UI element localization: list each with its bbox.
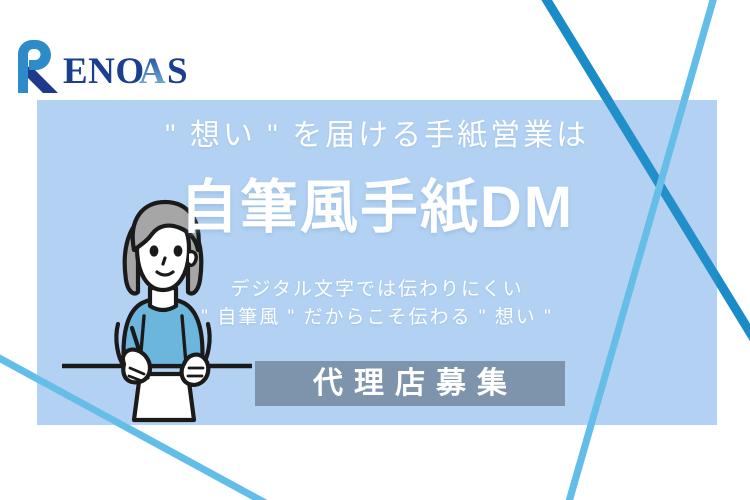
ear-shape bbox=[189, 252, 196, 266]
cta-label: 代理店募集 bbox=[302, 369, 518, 399]
wordmark-accent-a: A bbox=[139, 51, 166, 92]
renoas-wordmark: ENO A S bbox=[63, 50, 203, 92]
brand-logo[interactable]: ENO A S bbox=[10, 36, 203, 94]
eye-left bbox=[150, 245, 159, 256]
agency-recruitment-badge[interactable]: 代理店募集 bbox=[255, 361, 565, 406]
promo-banner: ENO A S bbox=[0, 0, 750, 500]
eye-right bbox=[174, 245, 183, 256]
wordmark-text-tail: S bbox=[167, 51, 188, 92]
wordmark-text: ENO bbox=[63, 51, 145, 92]
hand-right-shape bbox=[182, 355, 209, 385]
woman-writing-letter-illustration bbox=[62, 188, 252, 428]
renoas-r-icon bbox=[10, 38, 62, 94]
nose-shape bbox=[163, 258, 165, 264]
